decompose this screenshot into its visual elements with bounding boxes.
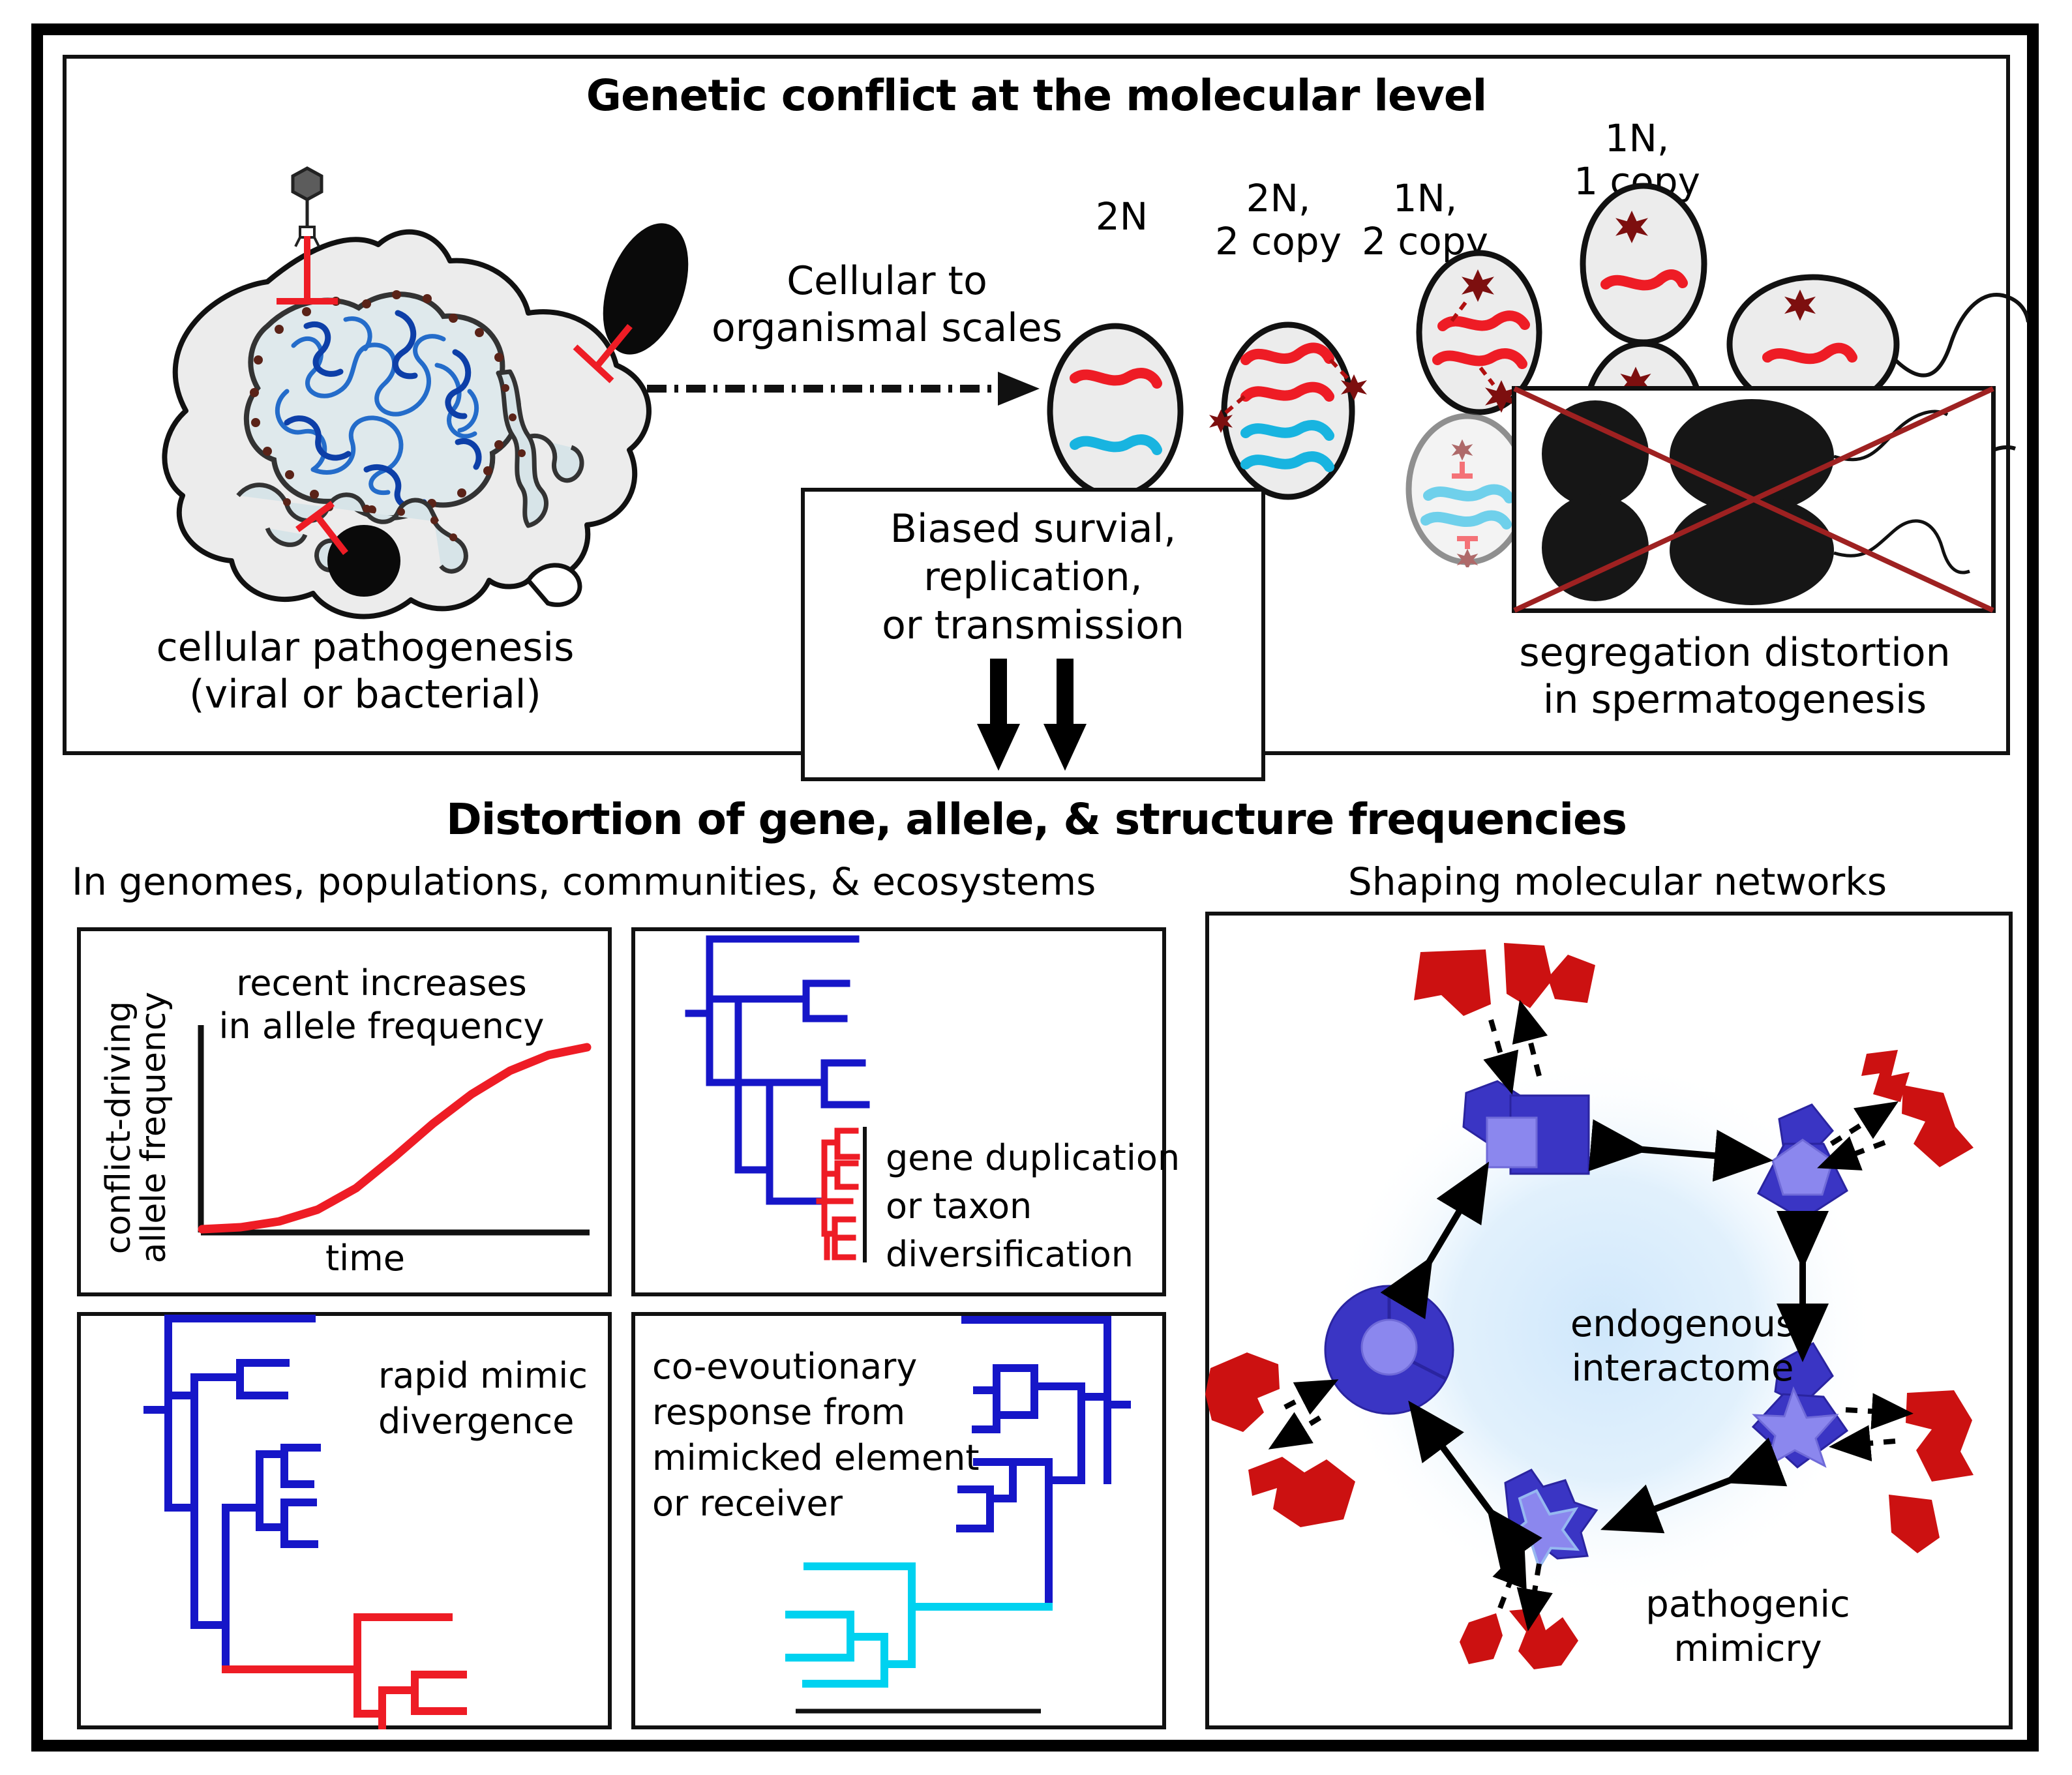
segregation-distortion-content bbox=[1512, 386, 1996, 613]
allele-chart-ylabel-line2: allele frequency bbox=[135, 991, 173, 1264]
network-mimic-top bbox=[1414, 943, 1595, 1016]
coevolutionary-label-line3: mimicked element bbox=[652, 1439, 1083, 1478]
gamete-2N-2copy bbox=[1209, 325, 1367, 497]
allele-chart-xlabel: time bbox=[248, 1239, 483, 1278]
pathogenic-mimicry-label-line1: pathogenic bbox=[1565, 1585, 1930, 1626]
cell-pathogenesis-caption-line1: cellular pathogenesis bbox=[91, 626, 639, 670]
segregation-caption-line2: in spermatogenesis bbox=[1428, 678, 2041, 722]
bottom-right-header: Shaping molecular networks bbox=[1220, 861, 2015, 903]
pathogenic-mimicry-label-line2: mimicry bbox=[1565, 1629, 1930, 1670]
network-center-label-line1: endogenous bbox=[1480, 1304, 1885, 1345]
scales-label-line1: Cellular to bbox=[691, 260, 1083, 303]
network-node-complex-left bbox=[1325, 1286, 1453, 1414]
allele-frequency-curve bbox=[202, 1047, 587, 1229]
biased-survival-line3: or transmission bbox=[801, 604, 1265, 648]
scales-arrow-icon bbox=[646, 366, 1050, 412]
network-mimic-right-upper bbox=[1861, 1050, 1974, 1167]
gamete-2N bbox=[1050, 326, 1180, 496]
allele-frequency-chart-axes bbox=[196, 1025, 593, 1253]
figure-root: Genetic conflict at the molecular level bbox=[0, 0, 2072, 1775]
segregation-caption-line1: segregation distortion bbox=[1428, 631, 2041, 675]
bacterium-shape-2 bbox=[327, 525, 400, 597]
rapid-mimic-label-line2: divergence bbox=[378, 1402, 639, 1441]
gamete-1N-1copy-a bbox=[1583, 186, 1704, 342]
biased-survival-down-arrows bbox=[965, 659, 1109, 776]
network-arrows-left bbox=[1285, 1389, 1320, 1439]
cell-illustration bbox=[72, 130, 698, 626]
bottom-panel-title: Distortion of gene, allele, & structure … bbox=[63, 796, 2010, 844]
top-panel-title: Genetic conflict at the molecular level bbox=[63, 72, 2010, 120]
biased-survival-line1: Biased survial, bbox=[801, 507, 1265, 551]
gamete-suppressed bbox=[1409, 416, 1526, 567]
cell-pathogenesis-caption-line2: (viral or bacterial) bbox=[91, 673, 639, 717]
coevolutionary-label-line2: response from bbox=[652, 1393, 1057, 1432]
allele-chart-title-line1: recent increases bbox=[157, 964, 607, 1003]
bottom-left-header: In genomes, populations, communities, & … bbox=[72, 861, 1180, 903]
network-arrows-right-upper bbox=[1831, 1112, 1885, 1161]
allele-chart-ylabel-line1: conflict-driving bbox=[100, 991, 138, 1264]
coevolutionary-label-line4: or receiver bbox=[652, 1484, 1057, 1523]
biased-survival-line2: replication, bbox=[801, 556, 1265, 599]
network-mimic-bottom bbox=[1460, 1608, 1578, 1669]
rapid-mimic-label-line1: rapid mimic bbox=[378, 1356, 639, 1395]
network-mimic-right-lower bbox=[1889, 1390, 1974, 1553]
network-center-label-line2: interactome bbox=[1480, 1349, 1885, 1390]
coevolutionary-label-line1: co-evoutionary bbox=[652, 1347, 1057, 1386]
bacteriophage-icon bbox=[293, 168, 322, 246]
